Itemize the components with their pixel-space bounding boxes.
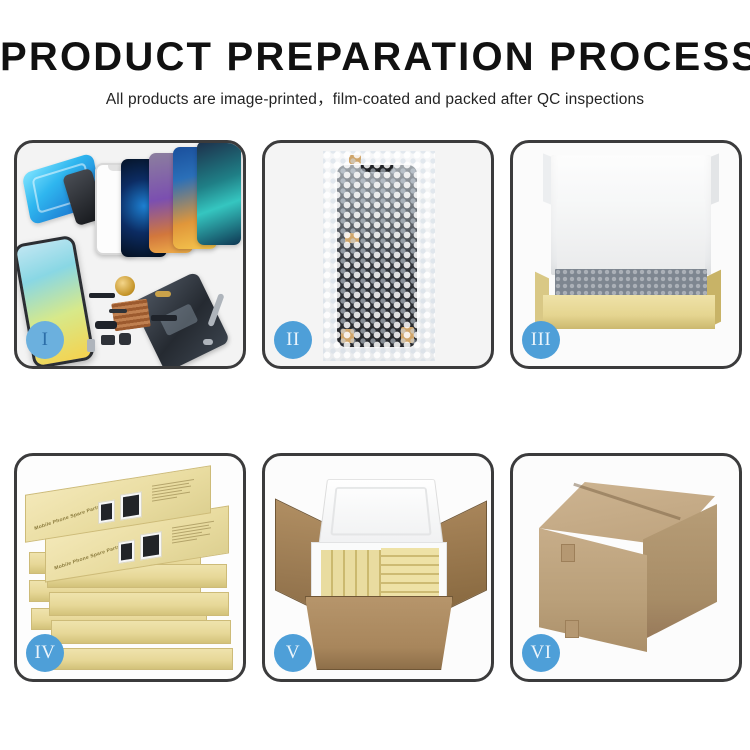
box-art-swatch-4 <box>140 531 162 560</box>
carton-tab-upper <box>561 544 575 562</box>
step-badge-4: IV <box>26 634 64 672</box>
kraft-boxes-inside-right <box>381 548 439 600</box>
process-step-panel-5[interactable]: V <box>262 453 494 682</box>
process-step-panel-6[interactable]: VI <box>510 453 742 682</box>
camera-module <box>101 335 115 345</box>
process-step-grid: I II III <box>14 140 738 682</box>
box-spec-lines-2 <box>172 521 214 546</box>
flex-cable-1 <box>89 293 115 298</box>
page-subtitle: All products are image-printed，film-coat… <box>0 87 750 109</box>
page-title: PRODUCT PREPARATION PROCESS <box>0 36 750 78</box>
foam-insert <box>557 199 705 271</box>
box-art-swatch-1 <box>98 499 115 524</box>
logic-board <box>111 299 151 332</box>
bubble-bag <box>323 151 435 361</box>
foam-box-lid <box>318 479 443 546</box>
stacked-box-4 <box>49 592 229 616</box>
gold-connector <box>155 291 171 297</box>
process-step-panel-2[interactable]: II <box>262 140 494 369</box>
box-art-swatch-2 <box>120 491 142 520</box>
process-step-panel-4[interactable]: Mobile Phone Spare Parts Mobile Phone Sp… <box>14 453 246 682</box>
flex-cable-2 <box>95 321 117 329</box>
bubble-texture-shadow <box>323 151 435 361</box>
phone-display-teal <box>197 143 241 245</box>
process-step-panel-1[interactable]: I <box>14 140 246 369</box>
sim-tray <box>87 339 95 352</box>
carton-body <box>305 596 453 670</box>
step-badge-1: I <box>26 321 64 359</box>
flex-cable-3 <box>151 315 177 321</box>
step-badge-5: V <box>274 634 312 672</box>
box-spec-lines-1 <box>152 479 194 504</box>
step-badge-3: III <box>522 321 560 359</box>
carton-tab-lower <box>565 620 579 638</box>
sealed-carton-front <box>539 528 647 652</box>
step-badge-6: VI <box>522 634 560 672</box>
step-badge-2: II <box>274 321 312 359</box>
speaker-module <box>115 276 135 296</box>
box-art-swatch-3 <box>118 539 135 564</box>
stacked-box-9 <box>53 648 233 670</box>
vibrator-motor <box>119 333 131 345</box>
kraft-box-front <box>543 295 715 329</box>
screw-set <box>203 339 213 345</box>
stacked-box-8 <box>51 620 231 644</box>
page-header: PRODUCT PREPARATION PROCESS All products… <box>0 0 750 109</box>
box-label-text-1: Mobile Phone Spare Parts <box>34 504 101 532</box>
process-step-panel-3[interactable]: III <box>510 140 742 369</box>
box-label-text-2: Mobile Phone Spare Parts <box>54 544 121 572</box>
antenna-strip <box>109 309 127 313</box>
